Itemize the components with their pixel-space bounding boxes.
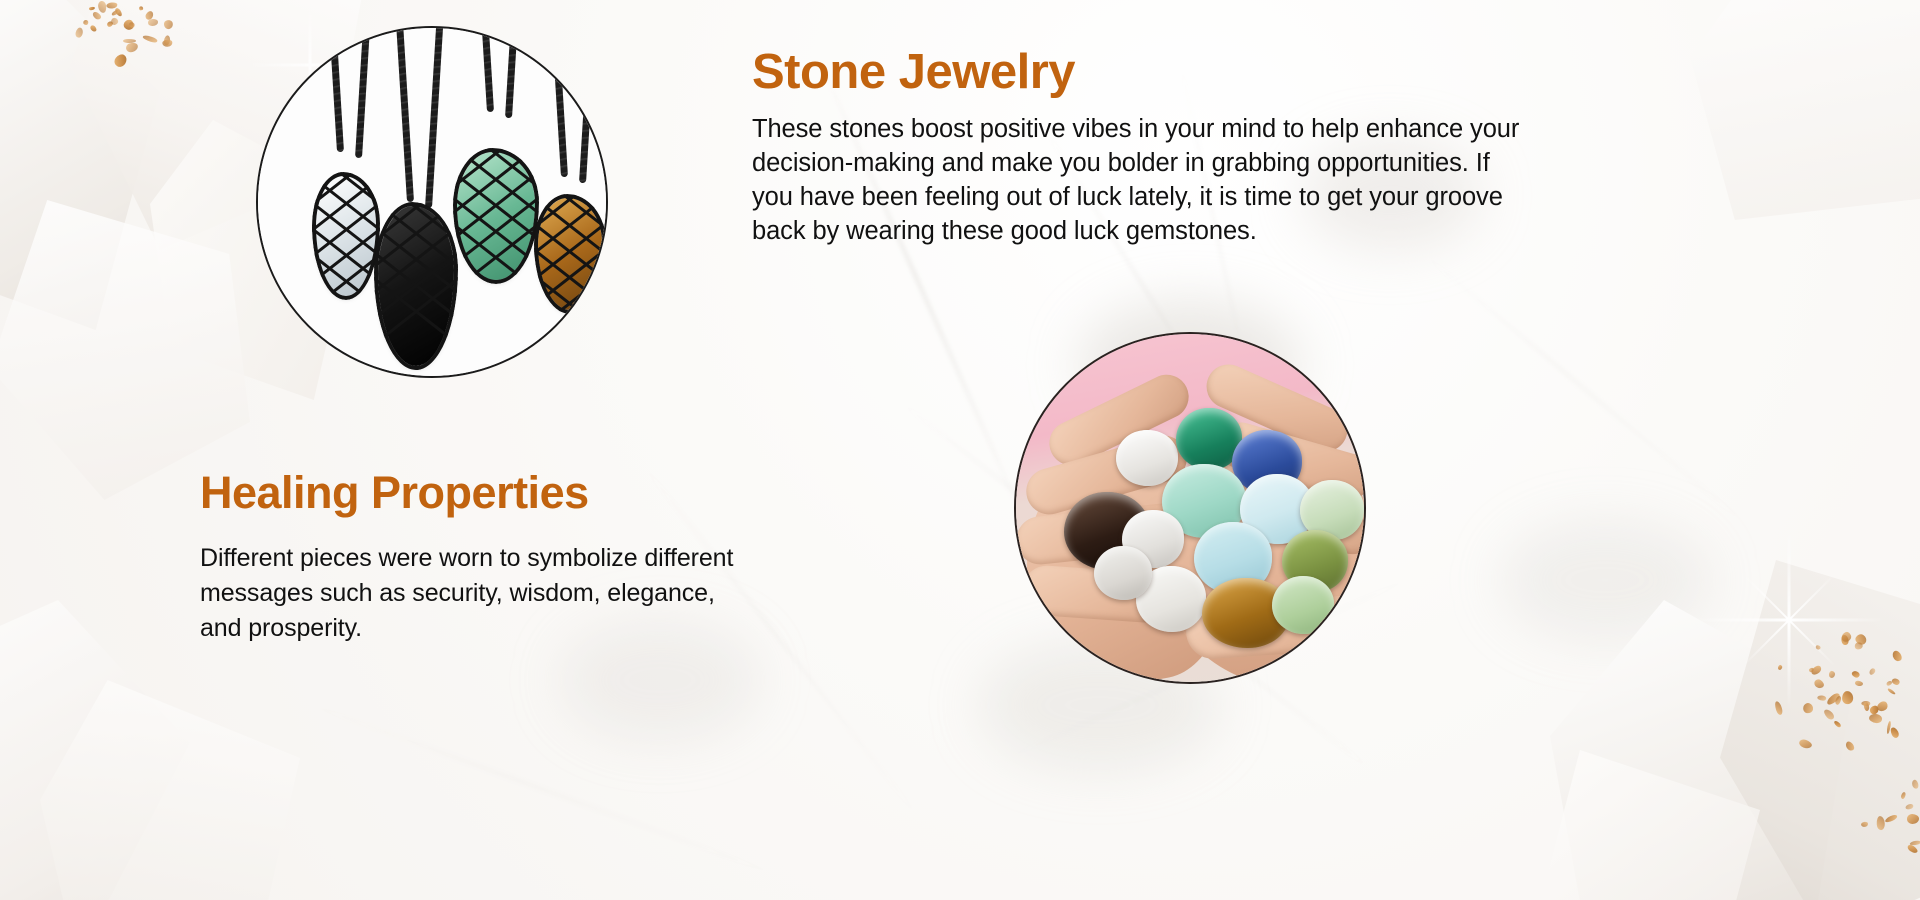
- gemstone-lapis-lazuli: [1094, 546, 1152, 600]
- gemstone-smoky-quartz: [1116, 430, 1178, 486]
- stone-jewelry-section: Stone Jewelry These stones boost positiv…: [752, 48, 1532, 249]
- necklace-cord: [579, 26, 597, 183]
- healing-properties-section: Healing Properties Different pieces were…: [200, 470, 760, 646]
- hands-holding-tumbled-stones-photo: [1014, 332, 1366, 684]
- macrame-net: [534, 194, 606, 314]
- necklace-cord: [550, 26, 568, 177]
- gemstone-green-aventurine: [1272, 576, 1334, 634]
- stone-pendant-tigers-eye: [258, 28, 606, 376]
- stone-jewelry-paragraph: These stones boost positive vibes in you…: [752, 113, 1532, 249]
- stone-jewelry-heading: Stone Jewelry: [752, 48, 1532, 97]
- page-content: Stone Jewelry These stones boost positiv…: [0, 0, 1920, 900]
- stone-pendant-necklaces-photo: [256, 26, 608, 378]
- healing-properties-paragraph: Different pieces were worn to symbolize …: [200, 541, 760, 646]
- healing-properties-heading: Healing Properties: [200, 470, 760, 515]
